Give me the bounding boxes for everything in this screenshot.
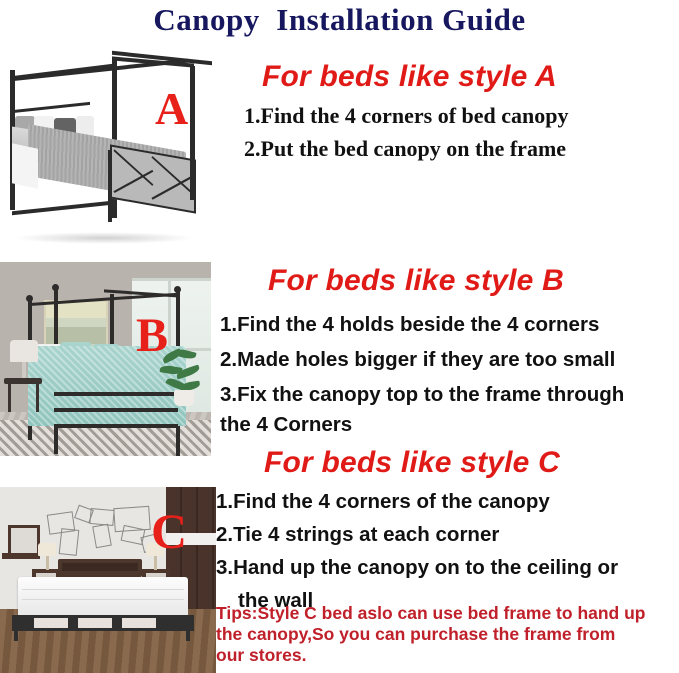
- step-item: 2.Tie 4 strings at each corner: [216, 518, 679, 551]
- step-item: 3.Hand up the canopy on to the ceiling o…: [216, 551, 679, 584]
- heading-style-b: For beds like style B: [268, 264, 564, 298]
- step-item: 2.Made holes bigger if they are too smal…: [220, 342, 679, 377]
- heading-style-c: For beds like style C: [264, 446, 560, 480]
- heading-style-a: For beds like style A: [262, 60, 557, 94]
- step-item: 3.Fix the canopy top to the frame throug…: [220, 377, 679, 412]
- step-item: 1.Find the 4 corners of the canopy: [216, 485, 679, 518]
- photo-label-a: A: [155, 86, 188, 132]
- page-title: Canopy Installation Guide: [0, 2, 679, 38]
- tips-note: Tips:Style C bed aslo can use bed frame …: [216, 603, 679, 666]
- steps-style-a: 1.Find the 4 corners of bed canopy 2.Put…: [244, 99, 674, 165]
- photo-style-b: [0, 262, 211, 456]
- steps-style-c: 1.Find the 4 corners of the canopy 2.Tie…: [216, 485, 679, 617]
- step-item: 1.Find the 4 corners of bed canopy: [244, 99, 674, 132]
- step-item: 2.Put the bed canopy on the frame: [244, 132, 674, 165]
- step-item-continued: the 4 Corners: [220, 412, 679, 438]
- photo-label-c: C: [151, 506, 187, 556]
- instruction-poster: Canopy Installation Guide: [0, 0, 679, 673]
- photo-label-b: B: [136, 312, 168, 360]
- photo-style-a: [0, 46, 216, 258]
- step-item: 1.Find the 4 holds beside the 4 corners: [220, 307, 679, 342]
- steps-style-b: 1.Find the 4 holds beside the 4 corners …: [220, 307, 679, 438]
